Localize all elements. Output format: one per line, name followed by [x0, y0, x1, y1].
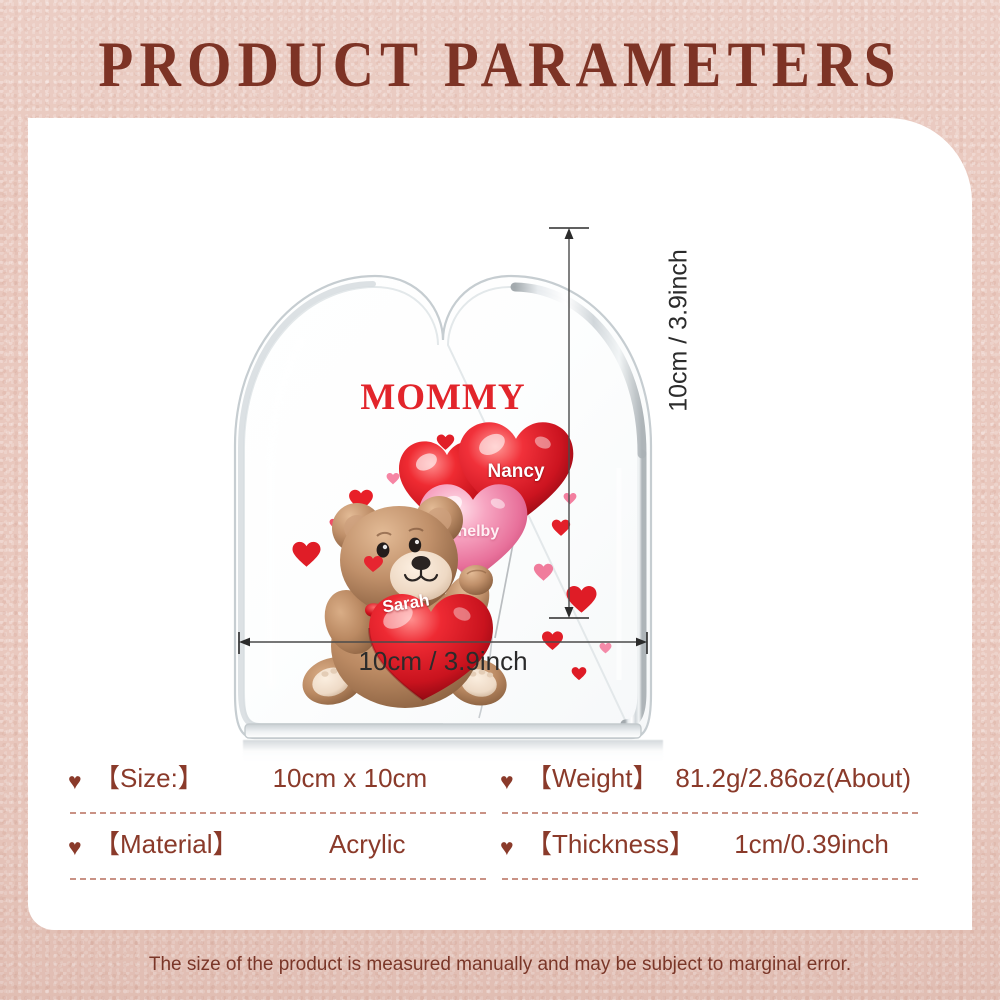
spec-cell-material: ♥ 【Material】 Acrylic	[68, 824, 500, 890]
vertical-dimension-line	[533, 223, 663, 623]
spec-divider	[502, 878, 918, 880]
spec-value: 10cm x 10cm	[204, 763, 488, 794]
vertical-dimension-label: 10cm / 3.9inch	[665, 211, 694, 451]
spec-key: 【Size:】	[94, 758, 204, 795]
footer-note: The size of the product is measured manu…	[0, 954, 1000, 976]
spec-row: ♥ 【Size:】 10cm x 10cm ♥ 【Weight】 81.2g/2…	[68, 758, 932, 824]
spec-cell-weight: ♥ 【Weight】 81.2g/2.86oz(About)	[500, 758, 932, 824]
page-title: PRODUCT PARAMETERS	[60, 26, 940, 104]
spec-value: Acrylic	[238, 829, 488, 860]
spec-value: 1cm/0.39inch	[695, 829, 920, 860]
product-card: MOMMY	[28, 118, 972, 930]
spec-value: 81.2g/2.86oz(About)	[658, 763, 920, 794]
spec-cell-thickness: ♥ 【Thickness】 1cm/0.39inch	[500, 824, 932, 890]
spec-key: 【Material】	[94, 824, 238, 861]
heart-icon: ♥	[68, 836, 94, 859]
spec-key: 【Thickness】	[526, 824, 695, 861]
spec-divider	[502, 812, 918, 814]
plaque-base-reflection	[243, 740, 663, 760]
spec-divider	[70, 812, 486, 814]
spec-row: ♥ 【Material】 Acrylic ♥ 【Thickness】 1cm/0…	[68, 824, 932, 890]
spec-divider	[70, 878, 486, 880]
heart-icon: ♥	[68, 770, 94, 793]
horizontal-dimension-label: 10cm / 3.9inch	[233, 646, 653, 677]
heart-icon: ♥	[500, 836, 526, 859]
spec-key: 【Weight】	[526, 758, 658, 795]
heart-icon: ♥	[500, 770, 526, 793]
spec-cell-size: ♥ 【Size:】 10cm x 10cm	[68, 758, 500, 824]
spec-table: ♥ 【Size:】 10cm x 10cm ♥ 【Weight】 81.2g/2…	[68, 758, 932, 890]
product-stage: MOMMY	[28, 118, 972, 930]
